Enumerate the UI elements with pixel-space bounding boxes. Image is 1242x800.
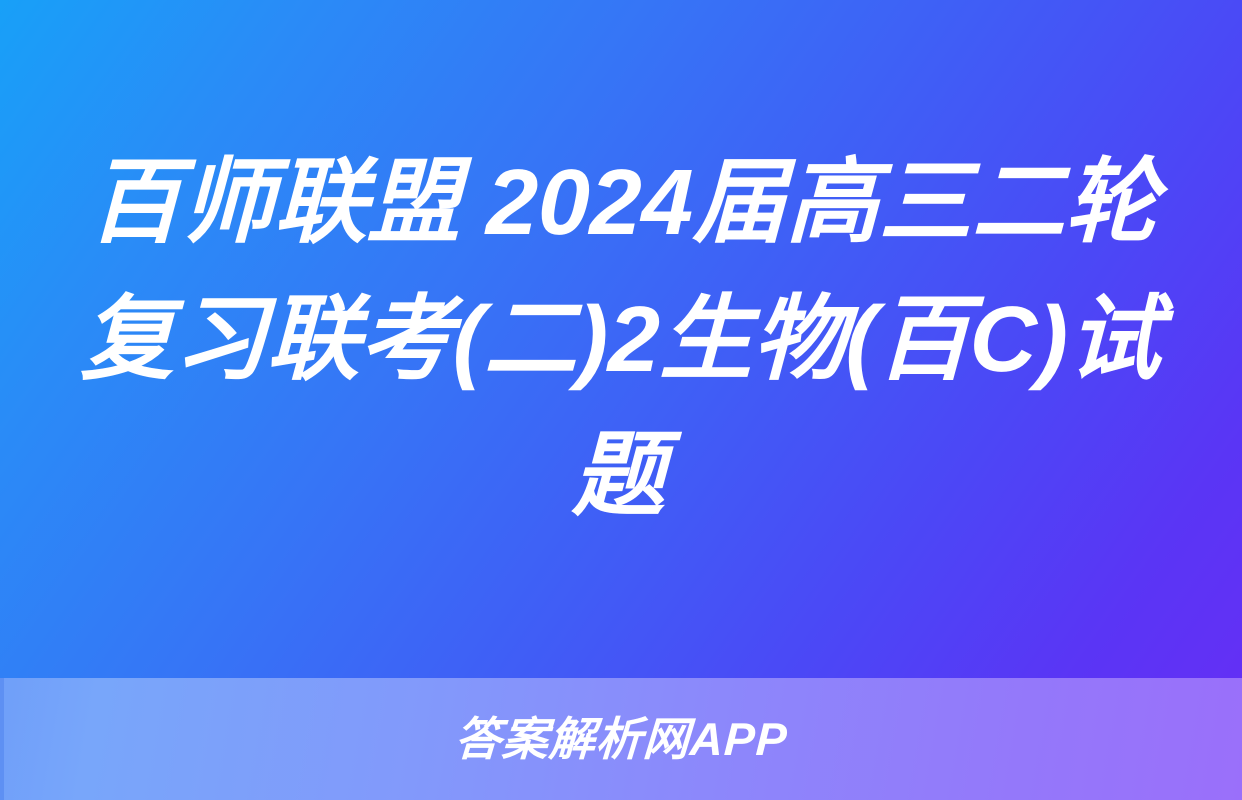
footer-watermark-label: 答案解析网APP: [453, 716, 788, 762]
title-block: 百师联盟 2024届高三二轮复习联考(二)2生物(百C)试题: [0, 0, 1242, 678]
page-title: 百师联盟 2024届高三二轮复习联考(二)2生物(百C)试题: [58, 134, 1183, 544]
poster-container: 百师联盟 2024届高三二轮复习联考(二)2生物(百C)试题 答案解析网APP: [0, 0, 1242, 800]
footer-watermark: 答案解析网APP: [0, 678, 1242, 800]
